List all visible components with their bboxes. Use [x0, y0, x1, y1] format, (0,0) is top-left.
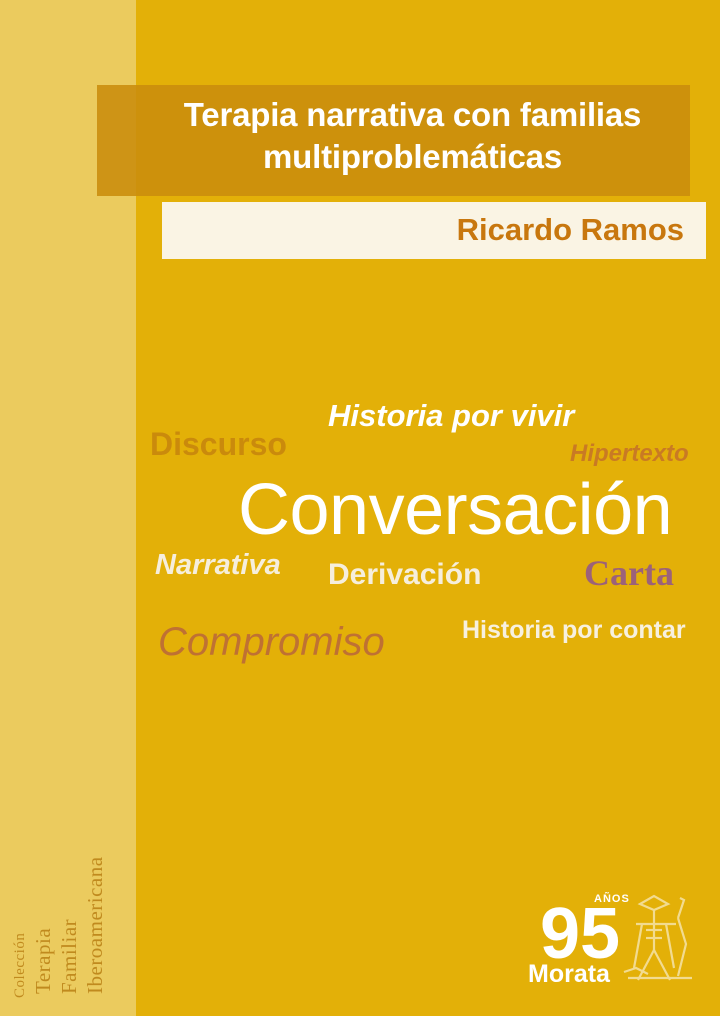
word-compromiso: Compromiso	[158, 620, 385, 665]
word-historia-por-vivir: Historia por vivir	[328, 398, 574, 434]
word-narrativa: Narrativa	[155, 549, 281, 582]
logo-publisher-name: Morata	[528, 960, 611, 988]
word-cloud: Historia por vivir Discurso Hipertexto C…	[0, 0, 720, 1016]
book-cover: Colección Terapia Familiar Iberoamerican…	[0, 0, 720, 1016]
word-conversacion: Conversación	[238, 469, 672, 551]
quixote-emblem-icon	[624, 896, 692, 980]
morata-logo-graphic: AÑOS 95 Morata	[528, 884, 712, 990]
word-discurso: Discurso	[150, 426, 287, 463]
word-derivacion: Derivación	[328, 558, 481, 592]
word-carta: Carta	[584, 552, 674, 594]
word-historia-por-contar: Historia por contar	[462, 616, 686, 645]
word-hipertexto: Hipertexto	[570, 440, 689, 468]
publisher-logo: AÑOS 95 Morata	[528, 884, 712, 990]
